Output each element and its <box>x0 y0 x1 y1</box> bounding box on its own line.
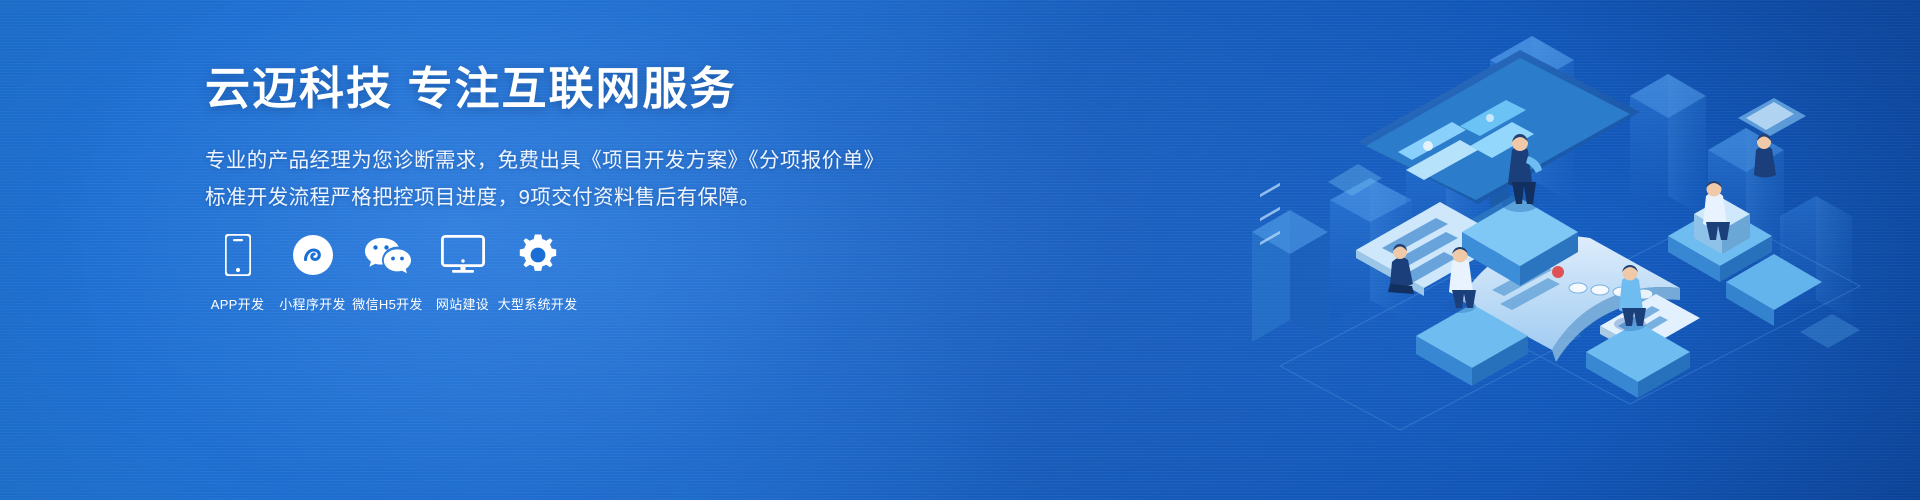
service-item-wechat-h5[interactable]: 微信H5开发 <box>350 232 425 313</box>
service-label: 网站建设 <box>436 294 489 313</box>
monitor-icon <box>441 232 485 278</box>
hero-banner: 云迈科技 专注互联网服务 专业的产品经理为您诊断需求，免费出具《项目开发方案》《… <box>0 0 1920 500</box>
mobile-phone-icon <box>225 232 251 278</box>
gear-icon <box>517 232 559 278</box>
illustration-container <box>1160 0 1920 500</box>
service-list: APP开发 小程序开发 微信 <box>200 232 575 313</box>
service-label: 大型系统开发 <box>498 294 578 313</box>
hero-copy: 云迈科技 专注互联网服务 专业的产品经理为您诊断需求，免费出具《项目开发方案》《… <box>205 62 925 217</box>
wechat-icon <box>364 232 412 278</box>
service-label: 微信H5开发 <box>352 294 422 313</box>
subtitle-line-2: 标准开发流程严格把控项目进度，9项交付资料售后有保障。 <box>205 179 925 216</box>
page-title: 云迈科技 专注互联网服务 <box>205 62 925 116</box>
isometric-team-dashboard-illustration <box>1160 0 1920 500</box>
service-label: 小程序开发 <box>279 294 346 313</box>
service-item-website[interactable]: 网站建设 <box>425 232 500 313</box>
service-label: APP开发 <box>211 294 265 313</box>
person-upper-right <box>1754 134 1776 178</box>
subtitle-line-1: 专业的产品经理为您诊断需求，免费出具《项目开发方案》《分项报价单》 <box>205 142 925 179</box>
mini-program-icon <box>292 232 334 278</box>
service-item-app[interactable]: APP开发 <box>200 232 275 313</box>
service-item-large-system[interactable]: 大型系统开发 <box>500 232 575 313</box>
service-item-mini-program[interactable]: 小程序开发 <box>275 232 350 313</box>
